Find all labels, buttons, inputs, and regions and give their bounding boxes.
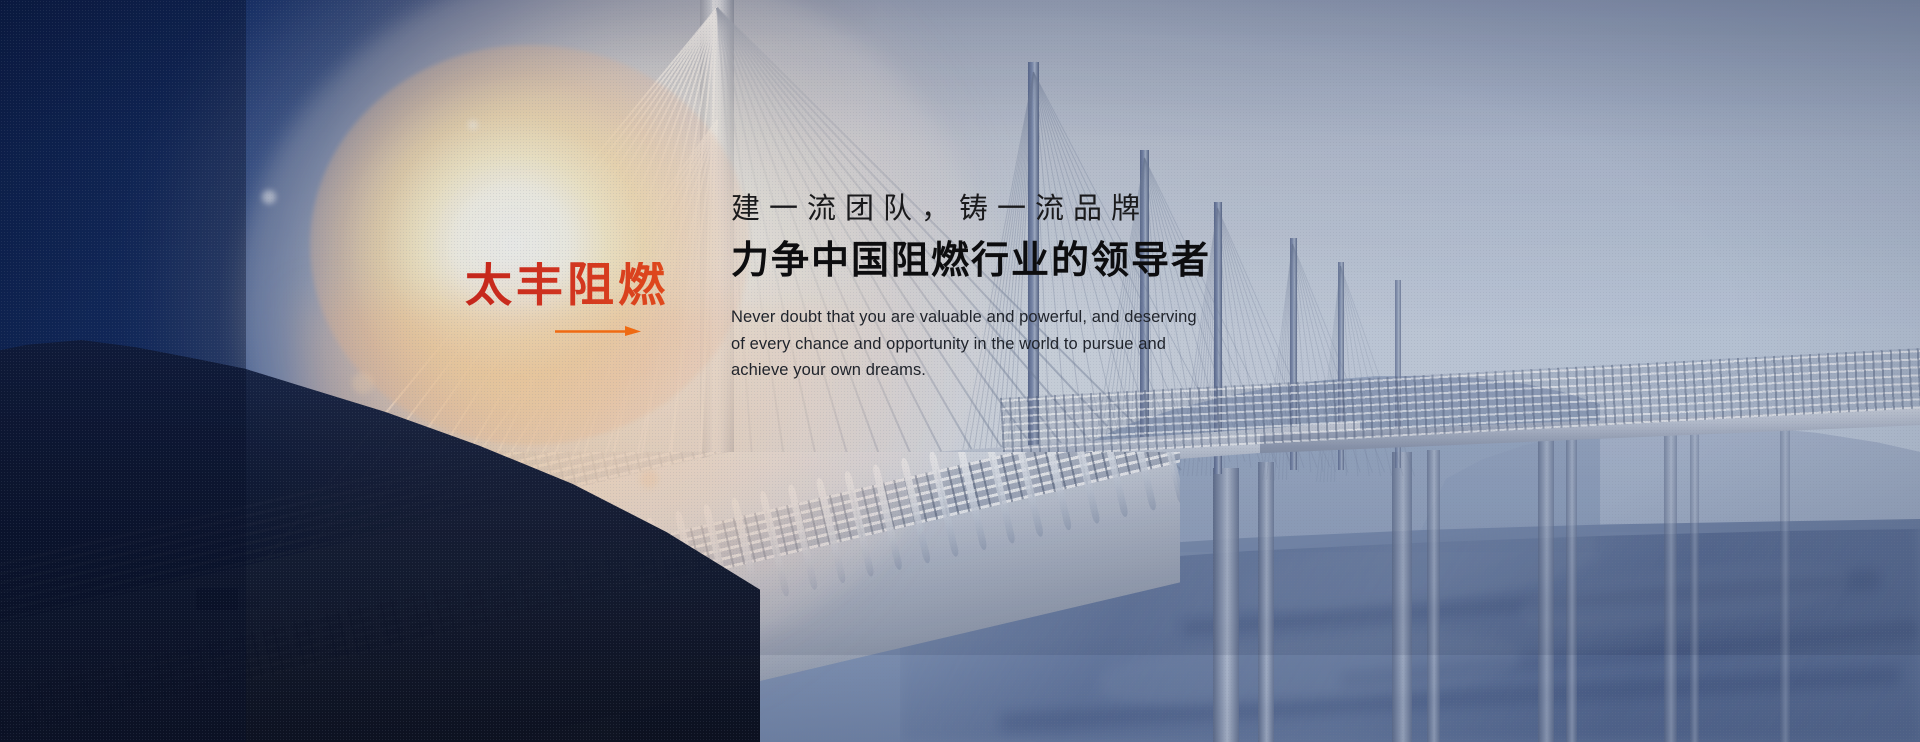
hero-paragraph-line: achieve your own dreams. <box>731 357 1371 384</box>
hero-copy: 建一流团队，铸一流品牌 力争中国阻燃行业的领导者 Never doubt tha… <box>731 190 1371 384</box>
hero-title: 力争中国阻燃行业的领导者 <box>731 238 1371 284</box>
brand-logo[interactable]: 太丰阻燃 <box>465 262 669 309</box>
hero-paragraph-line: of every chance and opportunity in the w… <box>731 331 1371 358</box>
brand-logo-text: 太丰阻燃 <box>465 262 669 309</box>
hero-paragraph: Never doubt that you are valuable and po… <box>731 304 1371 384</box>
hero-paragraph-line: Never doubt that you are valuable and po… <box>731 304 1371 331</box>
hero-subtitle: 建一流团队，铸一流品牌 <box>731 190 1371 226</box>
hero-banner: 太丰阻燃 建一流团队，铸一流品牌 力争中国阻燃行业的领导者 Never doub… <box>0 0 1920 742</box>
arrow-right-icon <box>555 325 643 339</box>
